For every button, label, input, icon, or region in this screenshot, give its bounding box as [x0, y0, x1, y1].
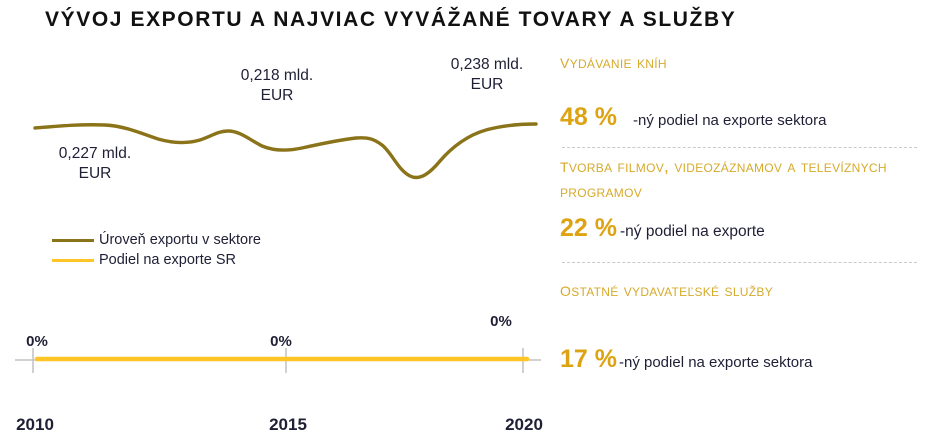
legend-item-label: Podiel na exporte SR	[99, 252, 236, 268]
x-axis-label-2010: 2010	[0, 415, 70, 435]
sector-item-books: Vydávanie kníh 48 % -ný podiel na export…	[560, 50, 942, 147]
value-label-2020: 0,238 mld. EUR	[422, 55, 552, 95]
sector-percent: 48 %	[560, 103, 617, 132]
legend-item-label: Úroveň exportu v sektore	[99, 232, 261, 248]
sector-percent-description: -ný podiel na exporte	[620, 223, 765, 241]
sector-name: Ostatné vydavateľské služby	[560, 278, 942, 303]
sector-divider	[562, 147, 917, 148]
legend-item-export-level[interactable]: Úroveň exportu v sektore	[52, 230, 352, 250]
share-label-2010: 0%	[7, 333, 67, 350]
top-exported-sectors-panel: Vydávanie kníh 48 % -ný podiel na export…	[560, 50, 942, 403]
share-label-2015: 0%	[251, 333, 311, 350]
sector-item-film-tv: Tvorba filmov, videozáznamov a televízny…	[560, 154, 942, 266]
sector-percent: 22 %	[560, 214, 617, 243]
value-label-2010: 0,227 mld. EUR	[30, 144, 160, 184]
sector-stat: 17 % -ný podiel na exporte sektora	[560, 345, 942, 374]
sector-stat: 22 % -ný podiel na exporte	[560, 214, 942, 243]
chart-legend: Úroveň exportu v sektore Podiel na expor…	[52, 230, 352, 270]
x-axis-label-2020: 2020	[489, 415, 559, 435]
legend-item-share[interactable]: Podiel na exporte SR	[52, 250, 352, 270]
sector-name: Tvorba filmov, videozáznamov a televízny…	[560, 154, 942, 204]
sector-percent-description: -ný podiel na exporte sektora	[619, 354, 812, 371]
x-axis-label-2015: 2015	[253, 415, 323, 435]
sector-percent: 17 %	[560, 345, 617, 374]
sector-divider	[562, 262, 917, 263]
sector-item-other-publishing: Ostatné vydavateľské služby 17 % -ný pod…	[560, 278, 942, 390]
legend-swatch-icon	[52, 239, 94, 242]
share-label-2020: 0%	[471, 313, 531, 330]
legend-swatch-icon	[52, 259, 94, 262]
sector-name: Vydávanie kníh	[560, 50, 942, 75]
value-label-2015: 0,218 mld. EUR	[212, 66, 342, 106]
export-chart-panel: 0,227 mld. EUR 0,218 mld. EUR 0,238 mld.…	[0, 45, 556, 403]
sector-stat: 48 % -ný podiel na exporte sektora	[560, 103, 942, 132]
sector-percent-description: -ný podiel na exporte sektora	[633, 112, 826, 129]
page-title: VÝVOJ EXPORTU A NAJVIAC VYVÁŽANÉ TOVARY …	[45, 8, 736, 32]
